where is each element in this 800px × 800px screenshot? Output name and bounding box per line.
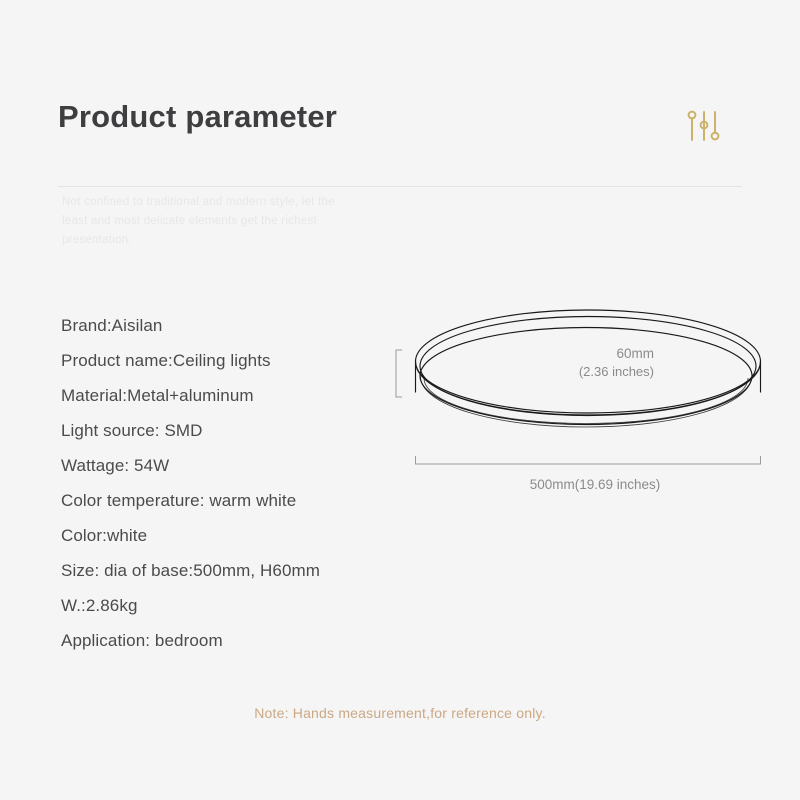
height-dimension-label: 60mm (2.36 inches) [542,345,654,381]
height-bracket [396,350,402,397]
height-dimension-inches: (2.36 inches) [542,363,654,381]
spec-item-application: Application: bedroom [61,623,391,658]
product-parameter-page: Product parameter Not confined to tradit… [0,0,800,800]
height-dimension-mm: 60mm [542,345,654,363]
subtitle-text: Not confined to traditional and modern s… [62,193,362,250]
footer-note: Note: Hands measurement,for reference on… [0,705,800,721]
spec-item-color: Color:white [61,518,391,553]
spec-item-size: Size: dia of base:500mm, H60mm [61,553,391,588]
width-dimension-label: 500mm(19.69 inches) [415,476,775,494]
width-bracket [416,456,761,464]
sliders-icon [684,106,724,146]
header-divider [58,186,742,187]
product-diagram: 60mm (2.36 inches) 500mm(19.69 inches) [290,300,790,515]
page-title: Product parameter [58,98,337,135]
spec-item-weight: W.:2.86kg [61,588,391,623]
